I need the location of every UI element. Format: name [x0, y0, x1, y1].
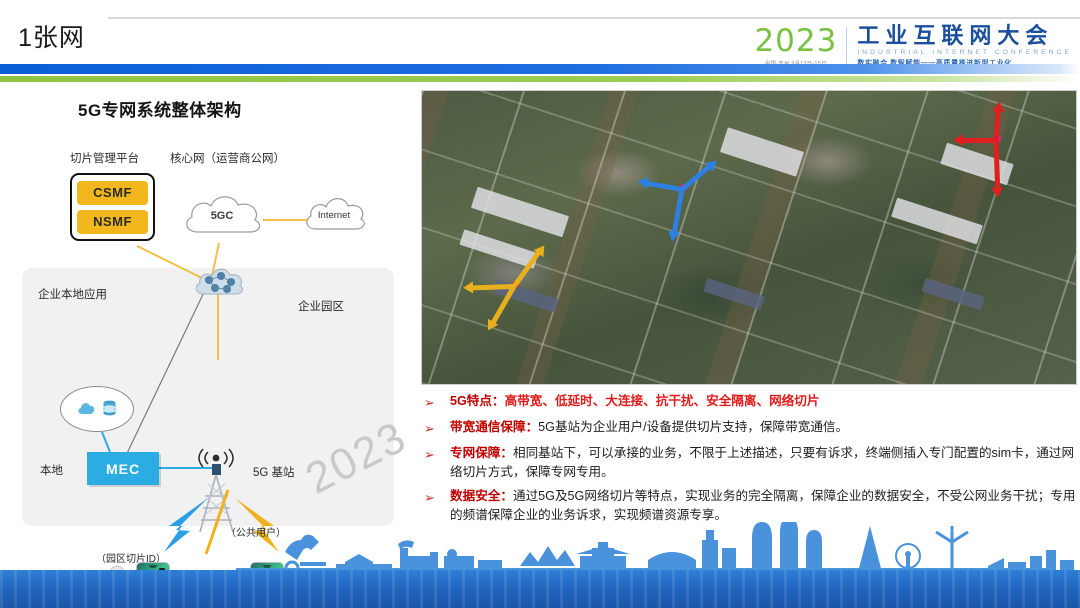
network-node-cloud-icon: [191, 263, 247, 299]
slide: 1张网 2023 中国·苏州 9月13日-15日 工业互联网大会 INDUSTR…: [0, 0, 1080, 608]
footer-skyline: [0, 522, 1080, 574]
sat-building: [940, 143, 1013, 186]
sat-building: [471, 187, 569, 238]
mec-box: MEC: [87, 452, 159, 485]
slice-platform-box: CSMF NSMF: [70, 173, 155, 241]
blue-sector-arrow: [680, 164, 711, 191]
logo-title-en: INDUSTRIAL INTERNET CONFERENCE: [857, 49, 1072, 56]
conference-logo: 2023 中国·苏州 9月13日-15日 工业互联网大会 INDUSTRIAL …: [754, 22, 1072, 70]
core-network-label: 核心网（运营商公网）: [170, 150, 285, 166]
bullet-body: 高带宽、低延时、大连接、抗干扰、安全隔离、网络切片: [505, 394, 820, 408]
bullet-text: 带宽通信保障：5G基站为企业用户/设备提供切片支持，保障带宽通信。: [450, 418, 848, 437]
satellite-image: [421, 90, 1077, 385]
header-divider: [108, 17, 1080, 19]
csmf-box: CSMF: [77, 181, 148, 205]
blue-sector-arrow: [672, 189, 685, 233]
logo-text-block: 工业互联网大会 INDUSTRIAL INTERNET CONFERENCE 数…: [847, 24, 1072, 68]
sat-roof: [921, 278, 984, 310]
cloud-internet-label: Internet: [300, 191, 368, 239]
slice-platform-label: 切片管理平台: [70, 150, 139, 166]
bullet-text: 数据安全：通过5G及5G网络切片等特点，实现业务的完全隔离，保障企业的数据安全，…: [450, 487, 1076, 525]
campus-label: 企业园区: [298, 298, 344, 314]
list-item: ➢ 专网保障：相同基站下，可以承接的业务，不限于上述描述，只要有诉求，终端侧插入…: [424, 444, 1076, 482]
red-sector-arrow: [962, 138, 996, 143]
app-cloud-icon: [77, 399, 97, 419]
cloud-5gc-label: 5GC: [178, 188, 266, 244]
architecture-diagram: 5G专网系统整体架构 切片管理平台 CSMF NSMF 核心网（运营商公网） 5…: [10, 88, 410, 536]
bullet-arrow-icon: ➢: [424, 487, 450, 508]
page-title: 1张网: [18, 18, 85, 54]
local-label: 本地: [40, 462, 63, 478]
bullet-arrow-icon: ➢: [424, 444, 450, 465]
list-item: ➢ 带宽通信保障：5G基站为企业用户/设备提供切片支持，保障带宽通信。: [424, 418, 1076, 439]
bullet-arrow-icon: ➢: [424, 392, 450, 413]
logo-title-cn: 工业互联网大会: [857, 24, 1072, 47]
sat-building: [720, 127, 804, 176]
bullet-key: 专网保障：: [450, 446, 513, 460]
bullet-body: 5G基站为企业用户/设备提供切片支持，保障带宽通信。: [538, 420, 848, 434]
bullet-key: 带宽通信保障：: [450, 420, 538, 434]
bullet-body: 通过5G及5G网络切片等特点，实现业务的完全隔离，保障企业的数据安全，不受公网业…: [450, 489, 1076, 522]
bullet-body: 相同基站下，可以承接的业务，不限于上述描述，只要有诉求，终端侧插入专门配置的si…: [450, 446, 1074, 479]
list-item: ➢ 5G特点：高带宽、低延时、大连接、抗干扰、安全隔离、网络切片: [424, 392, 1076, 413]
sat-building: [891, 198, 983, 245]
cloud-5gc: 5GC: [178, 188, 266, 244]
nsmf-box: NSMF: [77, 210, 148, 234]
base-station-label: 5G 基站: [253, 464, 295, 480]
red-sector-arrow: [994, 140, 1001, 188]
sat-roof: [703, 278, 764, 310]
bullet-key: 5G特点：: [450, 394, 505, 408]
bullet-text: 5G特点：高带宽、低延时、大连接、抗干扰、安全隔离、网络切片: [450, 392, 819, 411]
logo-year-block: 2023 中国·苏州 9月13日-15日: [754, 26, 846, 67]
header-bar-blue: [0, 64, 1080, 74]
bullet-list: ➢ 5G特点：高带宽、低延时、大连接、抗干扰、安全隔离、网络切片 ➢ 带宽通信保…: [424, 392, 1076, 530]
bullet-key: 数据安全：: [450, 489, 513, 503]
local-app-icon-group: [60, 386, 134, 432]
list-item: ➢ 数据安全：通过5G及5G网络切片等特点，实现业务的完全隔离，保障企业的数据安…: [424, 487, 1076, 525]
header-bar-green: [0, 76, 1080, 82]
local-app-label: 企业本地应用: [38, 286, 107, 302]
blue-sector-arrow: [646, 181, 682, 192]
logo-year: 2023: [754, 26, 837, 57]
database-icon: [102, 399, 117, 419]
bullet-text: 专网保障：相同基站下，可以承接的业务，不限于上述描述，只要有诉求，终端侧插入专门…: [450, 444, 1076, 482]
cloud-internet: Internet: [300, 191, 368, 239]
bullet-arrow-icon: ➢: [424, 418, 450, 439]
footer-band: [0, 570, 1080, 608]
